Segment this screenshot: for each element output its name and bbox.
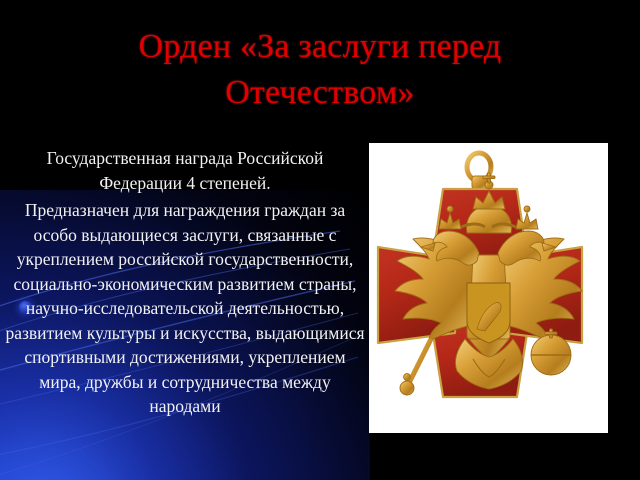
slide-title: Орден «За заслуги перед Отечеством» (40, 24, 600, 116)
body-paragraph-1: Государственная награда Российской Федер… (4, 146, 366, 195)
presentation-slide: Орден «За заслуги перед Отечеством» Госу… (0, 0, 640, 480)
order-cross-illustration (369, 143, 608, 433)
slide-body-text: Государственная награда Российской Федер… (4, 146, 366, 419)
body-paragraph-2: Предназначен для награждения граждан за … (4, 198, 366, 419)
order-medal-image (369, 143, 608, 433)
